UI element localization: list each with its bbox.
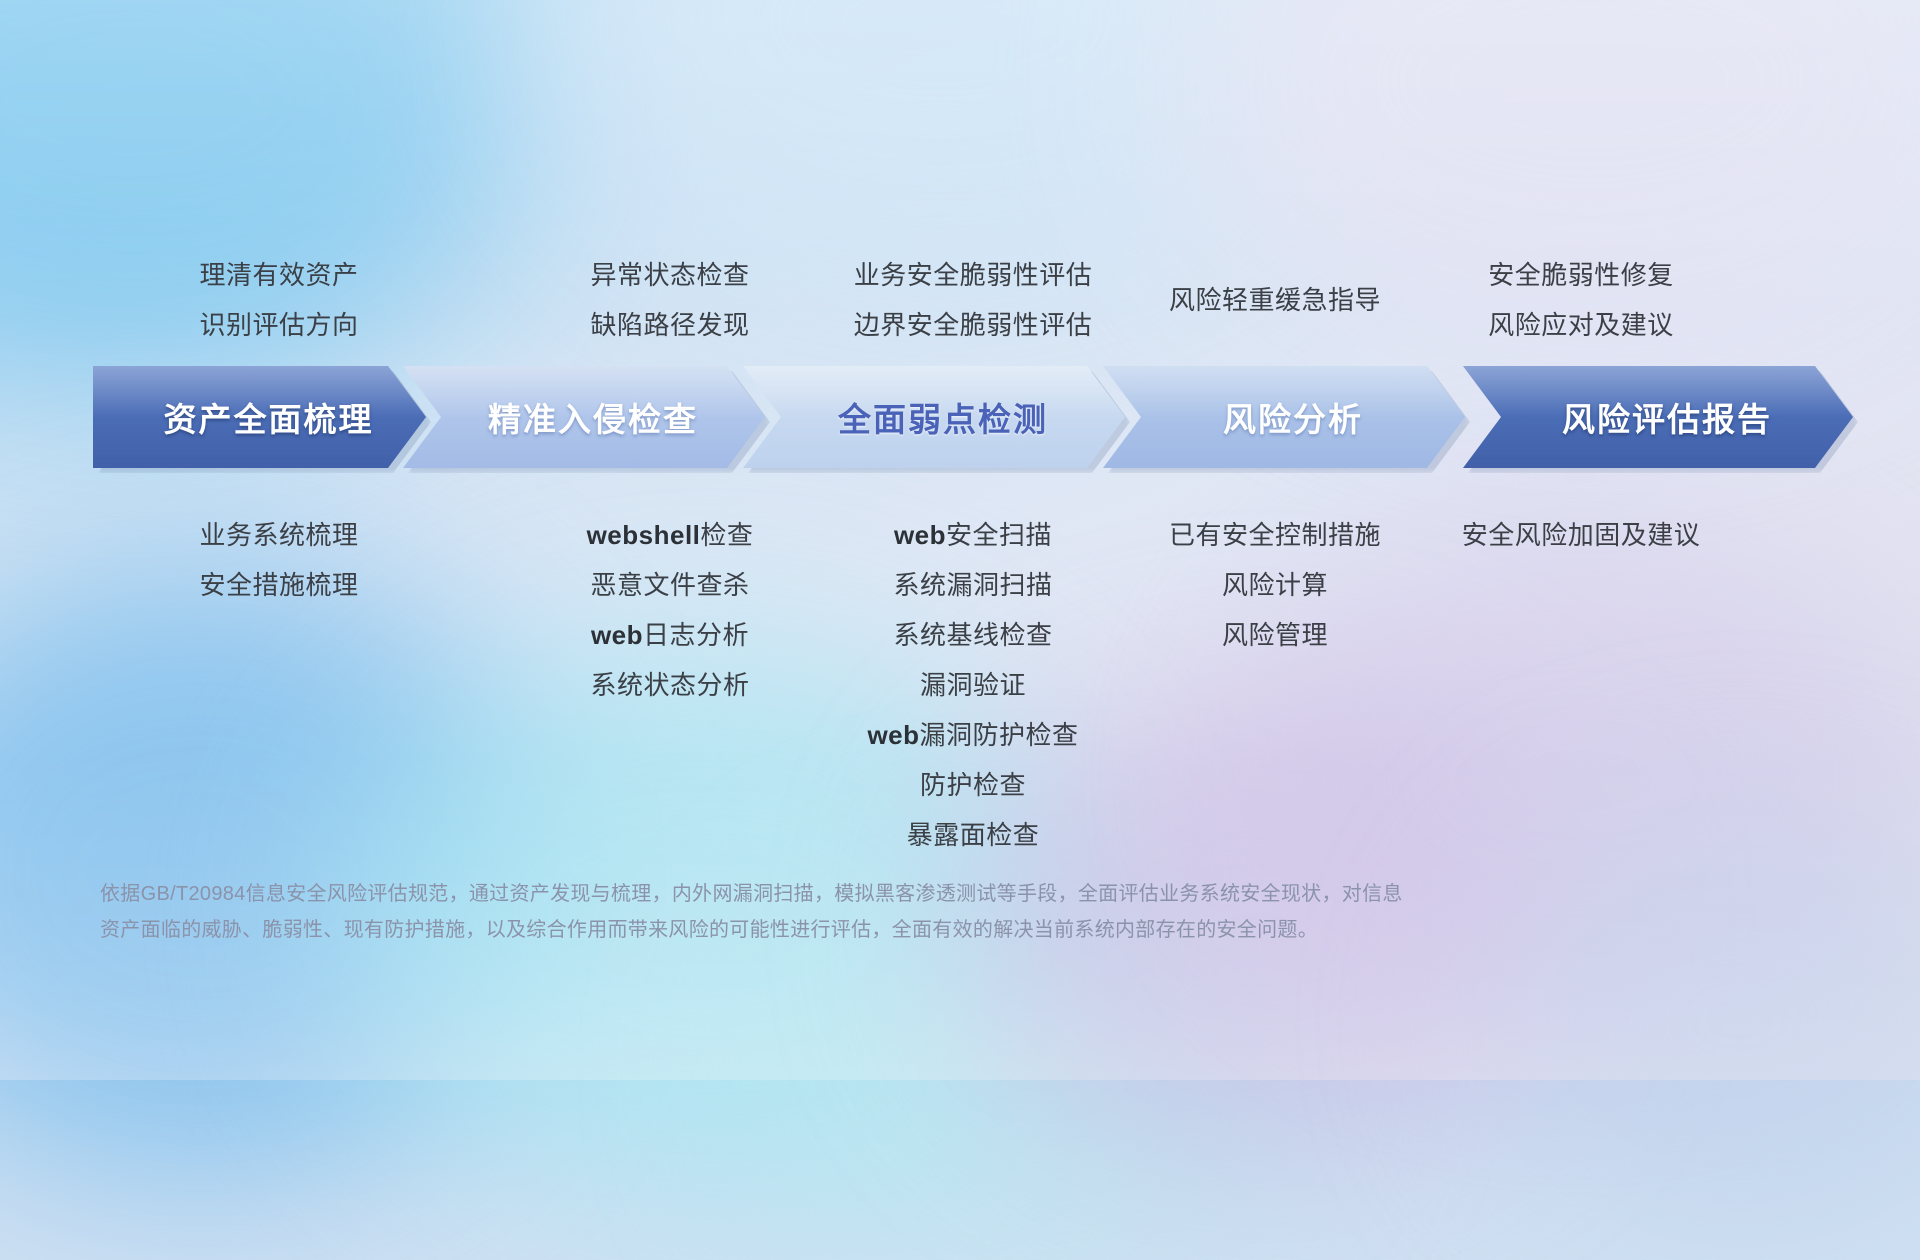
stage-label-assessment-report: 风险评估报告 — [1544, 393, 1772, 441]
stage-chevron-asset-review[interactable]: 资产全面梳理 — [93, 366, 426, 468]
bottom-item-keyword: web — [894, 520, 946, 550]
bottom-item: 暴露面检查 — [673, 810, 1273, 860]
stage-chevron-weakness-detection[interactable]: 全面弱点检测 — [743, 366, 1125, 468]
bottom-items-assessment-report: 安全风险加固及建议 — [1281, 510, 1881, 560]
top-item: 安全脆弱性修复 — [1281, 250, 1881, 300]
stage-chevron-risk-analysis[interactable]: 风险分析 — [1103, 366, 1465, 468]
top-items-assessment-report: 安全脆弱性修复风险应对及建议 — [1281, 250, 1881, 350]
stage-label-intrusion-check: 精准入侵检查 — [470, 393, 698, 441]
stage-chevron-assessment-report[interactable]: 风险评估报告 — [1463, 366, 1853, 468]
process-diagram: 理清有效资产识别评估方向异常状态检查缺陷路径发现业务安全脆弱性评估边界安全脆弱性… — [0, 0, 1920, 1080]
bottom-item: 防护检查 — [673, 760, 1273, 810]
footer-line-2: 资产面临的威胁、脆弱性、现有防护措施，以及综合作用而带来风险的可能性进行评估，全… — [100, 912, 1720, 948]
footer-line-1: 依据GB/T20984信息安全风险评估规范，通过资产发现与梳理，内外网漏洞扫描，… — [100, 876, 1720, 912]
bottom-item: web漏洞防护检查 — [673, 710, 1273, 760]
bottom-item: 风险管理 — [975, 610, 1575, 660]
bottom-item: 漏洞验证 — [673, 660, 1273, 710]
bottom-item: 安全风险加固及建议 — [1281, 510, 1881, 560]
bottom-item: 风险计算 — [975, 560, 1575, 610]
stage-label-asset-review: 资产全面梳理 — [146, 393, 374, 441]
stage-chevron-intrusion-check[interactable]: 精准入侵检查 — [403, 366, 765, 468]
footer-description: 依据GB/T20984信息安全风险评估规范，通过资产发现与梳理，内外网漏洞扫描，… — [100, 876, 1720, 948]
bottom-item-keyword: web — [867, 720, 919, 750]
top-item: 风险应对及建议 — [1281, 300, 1881, 350]
bottom-item-keyword: web — [591, 620, 643, 650]
stage-label-weakness-detection: 全面弱点检测 — [820, 393, 1048, 441]
stage-label-risk-analysis: 风险分析 — [1205, 393, 1363, 441]
stage-chevron-band: 资产全面梳理精准入侵检查全面弱点检测风险分析风险评估报告 — [93, 366, 1853, 468]
